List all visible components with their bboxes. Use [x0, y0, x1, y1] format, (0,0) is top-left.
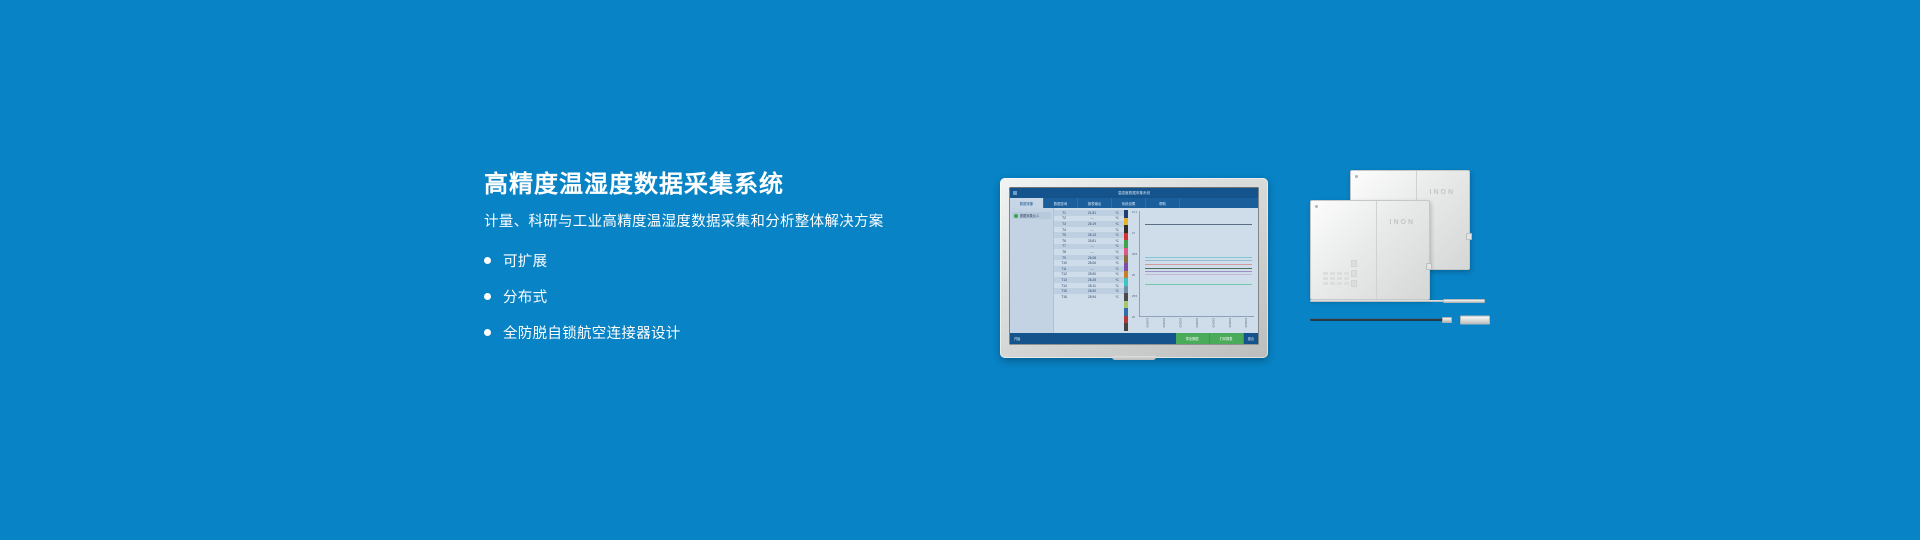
tab-help[interactable]: 帮助: [1146, 198, 1180, 208]
channel-unit: ℃: [1112, 284, 1122, 288]
action-bar-spacer: [1024, 333, 1175, 344]
channel-name: T14: [1056, 284, 1072, 288]
feature-label: 可扩展: [503, 250, 547, 271]
channel-name: T15: [1056, 289, 1072, 293]
chart-y-axis: 27.12726.52625.525: [1132, 211, 1138, 319]
legend-color-swatch: [1124, 225, 1128, 233]
chart-series-line: [1145, 268, 1252, 269]
channel-name: T2: [1056, 216, 1072, 220]
channel-value: 25.90: [1072, 272, 1112, 276]
feature-label: 全防脱自锁航空连接器设计: [503, 322, 681, 343]
probe-connector: [1442, 317, 1452, 323]
tab-report-output[interactable]: 报表输出: [1078, 198, 1112, 208]
channel-unit: ℃: [1112, 267, 1122, 271]
page-title: 高精度温湿度数据采集系统: [484, 172, 964, 198]
x-tick-label: 10:23:00: [1195, 318, 1198, 331]
legend-color-swatch: [1124, 218, 1128, 226]
legend-color-swatch: [1124, 263, 1128, 271]
channel-value: 26.06: [1072, 261, 1112, 265]
action-bar: 开始 导出数据 打印报表 退出: [1010, 333, 1258, 344]
temperature-probe: [1310, 298, 1485, 303]
x-tick-label: 10:26:00: [1244, 318, 1247, 331]
hardware-group: INON INON: [1310, 170, 1500, 330]
screw-icon: [1315, 205, 1318, 208]
channel-unit: ℃: [1112, 228, 1122, 232]
channel-name: T8: [1056, 250, 1072, 254]
channel-unit: ℃: [1112, 239, 1122, 243]
table-row[interactable]: T8---℃: [1054, 249, 1124, 255]
legend-color-swatch: [1124, 301, 1128, 309]
channel-unit: ℃: [1112, 256, 1122, 260]
sidebar-item-device[interactable]: 数据采集仪-1: [1012, 212, 1051, 219]
legend-color-swatch: [1124, 240, 1128, 248]
y-tick-label: 26: [1132, 274, 1138, 277]
x-tick-label: 10:24:00: [1211, 318, 1214, 331]
chart-plot-area: [1139, 211, 1254, 317]
panel-seam: [1376, 201, 1377, 299]
screw-icon: [1355, 175, 1358, 178]
channel-unit: ℃: [1112, 272, 1122, 276]
channel-name: T6: [1056, 239, 1072, 243]
channel-name: T12: [1056, 272, 1072, 276]
table-row[interactable]: T1426.11℃: [1054, 283, 1124, 289]
y-tick-label: 27: [1132, 232, 1138, 235]
connector-port: [1426, 263, 1432, 270]
app-title: 温湿度数据采集系统: [1118, 191, 1150, 196]
table-row[interactable]: T1526.90℃: [1054, 288, 1124, 294]
channel-table: T121.81℃T2---℃T326.19℃T4---℃T526.13℃T625…: [1054, 208, 1124, 333]
y-tick-label: 27.1: [1132, 211, 1138, 214]
probe-tip: [1443, 299, 1485, 303]
y-tick-label: 25.5: [1132, 295, 1138, 298]
table-row[interactable]: T2---℃: [1054, 216, 1124, 222]
chart-series-line: [1145, 260, 1252, 261]
chart-series-line: [1145, 274, 1252, 275]
x-tick-label: 10:20:00: [1146, 318, 1149, 331]
status-ok-icon: [1014, 214, 1018, 218]
channel-unit: ℃: [1112, 289, 1122, 293]
port-grid-marks: [1323, 272, 1349, 285]
table-row[interactable]: T4---℃: [1054, 227, 1124, 233]
channel-value: ---: [1072, 216, 1112, 220]
legend-color-swatch: [1124, 323, 1128, 331]
chart-x-axis: 10:20:0010:21:0010:22:0010:23:0010:24:00…: [1139, 318, 1254, 331]
tab-data-query[interactable]: 数据查询: [1044, 198, 1078, 208]
banner-copy: 高精度温湿度数据采集系统 计量、科研与工业高精度温湿度数据采集和分析整体解决方案…: [484, 172, 964, 358]
channel-unit: ℃: [1112, 278, 1122, 282]
exit-button[interactable]: 退出: [1244, 333, 1258, 344]
bullet-dot-icon: [484, 293, 491, 300]
channel-value: 25.94: [1072, 295, 1112, 299]
table-row[interactable]: T1026.06℃: [1054, 260, 1124, 266]
probe-tip: [1460, 315, 1490, 324]
list-item: 可扩展: [484, 250, 964, 271]
legend-color-swatch: [1124, 271, 1128, 279]
brand-label: INON: [1430, 189, 1456, 196]
table-row[interactable]: T7---℃: [1054, 244, 1124, 250]
bullet-dot-icon: [484, 257, 491, 264]
bullet-dot-icon: [484, 329, 491, 336]
table-row[interactable]: T625.81℃: [1054, 238, 1124, 244]
tab-data-acquisition[interactable]: 数据采集: [1010, 198, 1044, 208]
page-subtitle: 计量、科研与工业高精度温湿度数据采集和分析整体解决方案: [484, 214, 964, 231]
channel-value: 25.81: [1072, 239, 1112, 243]
product-banner: 高精度温湿度数据采集系统 计量、科研与工业高精度温湿度数据采集和分析整体解决方案…: [0, 0, 1920, 540]
channel-name: T5: [1056, 233, 1072, 237]
table-row[interactable]: T526.13℃: [1054, 232, 1124, 238]
channel-value: ---: [1072, 267, 1112, 271]
feature-list: 可扩展 分布式 全防脱自锁航空连接器设计: [484, 250, 964, 343]
app-body: 数据采集仪-1 T121.81℃T2---℃T326.19℃T4---℃T526…: [1010, 208, 1258, 333]
tab-bar: 数据采集 数据查询 报表输出 系统设置 帮助: [1010, 198, 1258, 208]
channel-name: T16: [1056, 295, 1072, 299]
channel-value: 26.28: [1072, 278, 1112, 282]
channel-value: ---: [1072, 250, 1112, 254]
channel-value: 21.81: [1072, 211, 1112, 215]
trend-chart: 27.12726.52625.525 10:20:0010:21:0010:22…: [1129, 208, 1258, 333]
sidebar-item-label: 数据采集仪-1: [1020, 213, 1039, 218]
app-title-bar: 温湿度数据采集系统: [1010, 188, 1258, 198]
table-row[interactable]: T326.19℃: [1054, 221, 1124, 227]
table-row[interactable]: T11---℃: [1054, 266, 1124, 272]
humidity-probe: [1310, 316, 1490, 323]
legend-color-swatch: [1124, 233, 1128, 241]
print-report-button[interactable]: 打印报表: [1210, 333, 1244, 344]
tab-settings[interactable]: 系统设置: [1112, 198, 1146, 208]
chart-series-line: [1145, 224, 1252, 225]
table-row[interactable]: T926.08℃: [1054, 255, 1124, 261]
chart-series-line: [1145, 257, 1252, 258]
y-tick-label: 25: [1132, 316, 1138, 319]
probe-cable: [1310, 318, 1450, 321]
export-data-button[interactable]: 导出数据: [1176, 333, 1210, 344]
chart-series-line: [1145, 271, 1252, 272]
channel-name: T13: [1056, 278, 1072, 282]
series-color-legend: [1124, 210, 1128, 331]
channel-unit: ℃: [1112, 261, 1122, 265]
monitor-inner-frame: 温湿度数据采集系统 数据采集 数据查询 报表输出 系统设置 帮助: [1009, 187, 1259, 345]
legend-color-swatch: [1124, 308, 1128, 316]
channel-name: T1: [1056, 211, 1072, 215]
table-row[interactable]: T1225.90℃: [1054, 272, 1124, 278]
device-tree-sidebar: 数据采集仪-1: [1010, 208, 1054, 333]
port-icon-column: [1351, 260, 1357, 287]
channel-name: T10: [1056, 261, 1072, 265]
monitor-screen: 温湿度数据采集系统 数据采集 数据查询 报表输出 系统设置 帮助: [1010, 188, 1258, 344]
monitor-bezel: 温湿度数据采集系统 数据采集 数据查询 报表输出 系统设置 帮助: [1000, 178, 1268, 358]
channel-value: 26.19: [1072, 222, 1112, 226]
data-logger-front-unit: INON: [1310, 200, 1430, 300]
x-tick-label: 10:21:00: [1162, 318, 1165, 331]
y-tick-label: 26.5: [1132, 253, 1138, 256]
channel-name: T9: [1056, 256, 1072, 260]
chart-series-line: [1145, 264, 1252, 265]
channel-unit: ℃: [1112, 222, 1122, 226]
channel-name: T4: [1056, 228, 1072, 232]
channel-unit: ℃: [1112, 233, 1122, 237]
channel-unit: ℃: [1112, 216, 1122, 220]
channel-unit: ℃: [1112, 211, 1122, 215]
channel-unit: ℃: [1112, 244, 1122, 248]
channel-name: T11: [1056, 267, 1072, 271]
probe-cable: [1310, 300, 1462, 302]
legend-color-swatch: [1124, 293, 1128, 301]
connector-port: [1466, 233, 1472, 240]
table-row[interactable]: T1625.94℃: [1054, 294, 1124, 300]
app-icon: [1013, 191, 1017, 195]
legend-color-swatch: [1124, 248, 1128, 256]
channel-unit: ℃: [1112, 250, 1122, 254]
channel-name: T3: [1056, 222, 1072, 226]
legend-color-swatch: [1124, 210, 1128, 218]
legend-color-swatch: [1124, 286, 1128, 294]
list-item: 分布式: [484, 286, 964, 307]
legend-color-swatch: [1124, 255, 1128, 263]
feature-label: 分布式: [503, 286, 547, 307]
x-tick-label: 10:22:00: [1179, 318, 1182, 331]
legend-color-swatch: [1124, 316, 1128, 324]
table-row[interactable]: T1326.28℃: [1054, 277, 1124, 283]
chart-series-line: [1145, 284, 1252, 285]
brand-label: INON: [1390, 219, 1416, 226]
table-row[interactable]: T121.81℃: [1054, 210, 1124, 216]
start-button[interactable]: 开始: [1010, 333, 1024, 344]
channel-value: 26.11: [1072, 284, 1112, 288]
channel-value: 26.13: [1072, 233, 1112, 237]
channel-value: 26.90: [1072, 289, 1112, 293]
list-item: 全防脱自锁航空连接器设计: [484, 322, 964, 343]
channel-value: ---: [1072, 228, 1112, 232]
monitor-stand: [1112, 356, 1156, 360]
channel-value: 26.08: [1072, 256, 1112, 260]
channel-name: T7: [1056, 244, 1072, 248]
channel-unit: ℃: [1112, 295, 1122, 299]
x-tick-label: 10:25:00: [1228, 318, 1231, 331]
legend-color-swatch: [1124, 278, 1128, 286]
monitor-device: 温湿度数据采集系统 数据采集 数据查询 报表输出 系统设置 帮助: [1000, 178, 1268, 358]
channel-value: ---: [1072, 244, 1112, 248]
